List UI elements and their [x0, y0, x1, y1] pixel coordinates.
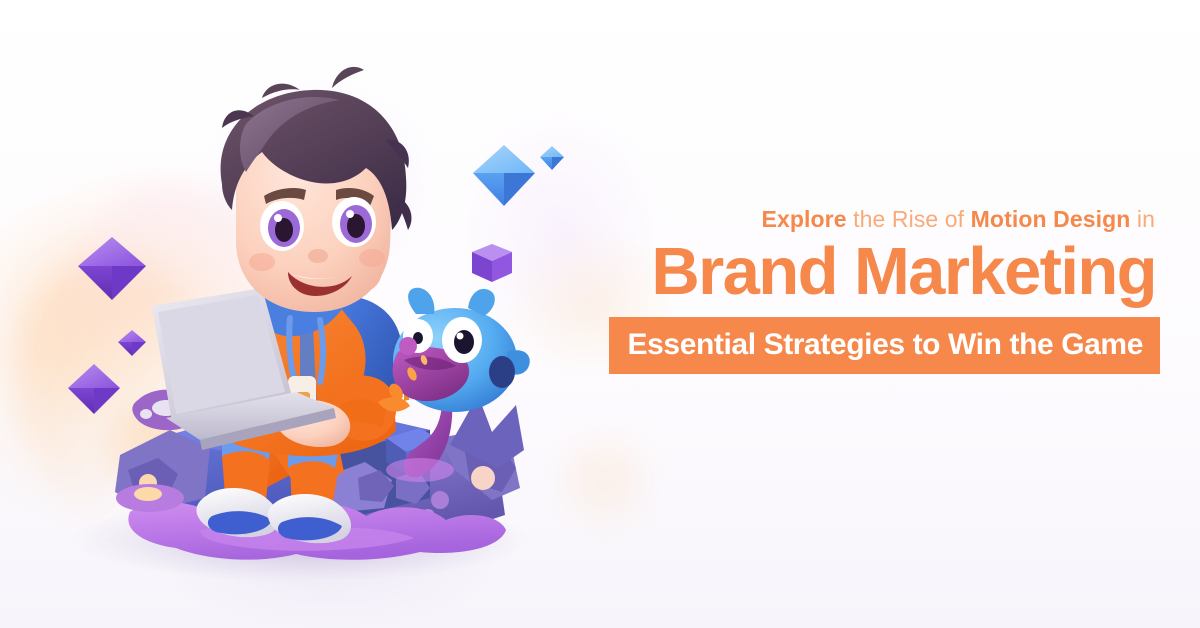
copy-block: Explore the Rise of Motion Design in Bra… — [540, 204, 1160, 374]
eyebrow-part-explore: Explore — [762, 206, 847, 232]
headline: Brand Marketing — [540, 236, 1160, 308]
gem-purple-mid — [68, 364, 120, 414]
eyebrow-part-the-rise-of: the Rise of — [853, 206, 964, 232]
gem-blue-small — [540, 146, 564, 170]
gem-blue-large — [473, 145, 535, 206]
boy-head — [221, 67, 412, 312]
gem-purple-cube — [472, 244, 512, 282]
eyebrow-line: Explore the Rise of Motion Design in — [540, 204, 1160, 234]
eyebrow-part-in: in — [1137, 206, 1155, 232]
promo-banner: Explore the Rise of Motion Design in Bra… — [0, 0, 1200, 628]
eyebrow-part-motion-design: Motion Design — [971, 206, 1131, 232]
subhead-band-wrapper: Essential Strategies to Win the Game — [540, 317, 1160, 374]
hero-illustration — [0, 0, 620, 628]
gem-purple-tiny — [118, 330, 146, 356]
gem-purple-large — [78, 237, 146, 300]
tail-glow — [386, 458, 454, 482]
subhead-band: Essential Strategies to Win the Game — [609, 317, 1160, 374]
